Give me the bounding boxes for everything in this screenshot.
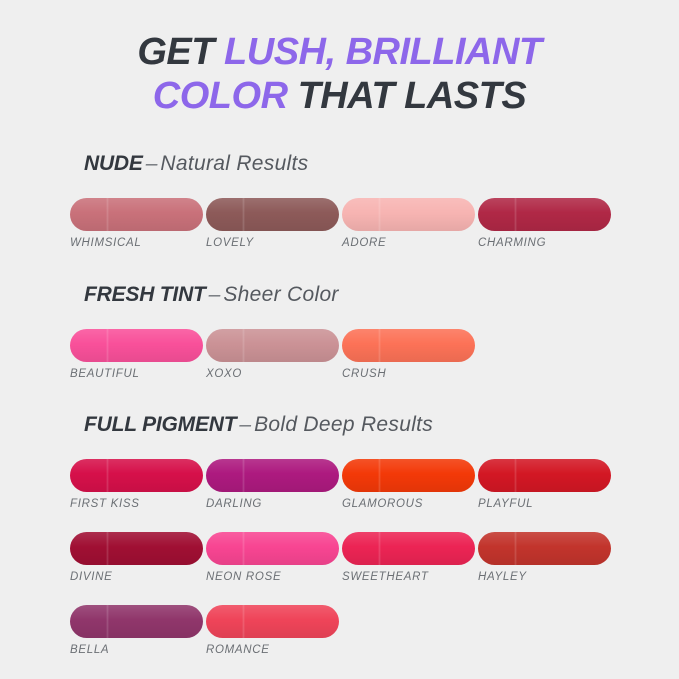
section-title-nude: NUDE–Natural Results	[84, 152, 630, 176]
swatch-cell-hayley[interactable]: HAYLEY	[478, 532, 612, 583]
headline-line-2: COLOR THAT LASTS	[0, 74, 679, 118]
swatch-color-bella[interactable]	[70, 605, 203, 638]
swatch-label-darling: DARLING	[206, 498, 340, 510]
swatch-label-whimsical: WHIMSICAL	[70, 237, 204, 249]
swatch-cell-xoxo[interactable]: XOXO	[206, 329, 340, 380]
section-dash-full-pigment: –	[236, 413, 254, 436]
section-dash-fresh-tint: –	[206, 283, 224, 306]
swatch-cell-neon-rose[interactable]: NEON ROSE	[206, 532, 340, 583]
swatch-color-divine[interactable]	[70, 532, 203, 565]
swatch-label-glamorous: GLAMOROUS	[342, 498, 476, 510]
swatch-grid-nude: WHIMSICAL LOVELY ADORE CHARMING	[70, 176, 630, 249]
swatch-label-neon-rose: NEON ROSE	[206, 571, 340, 583]
swatch-label-xoxo: XOXO	[206, 368, 340, 380]
page-title: GET LUSH, BRILLIANT COLOR THAT LASTS	[0, 30, 679, 118]
swatch-label-beautiful: BEAUTIFUL	[70, 368, 204, 380]
swatch-color-crush[interactable]	[342, 329, 475, 362]
swatch-label-adore: ADORE	[342, 237, 476, 249]
promo-graphic: GET LUSH, BRILLIANT COLOR THAT LASTS NUD…	[0, 0, 679, 679]
swatch-cell-charming[interactable]: CHARMING	[478, 198, 612, 249]
swatch-label-divine: DIVINE	[70, 571, 204, 583]
swatch-color-adore[interactable]	[342, 198, 475, 231]
swatch-color-neon-rose[interactable]	[206, 532, 339, 565]
section-name-fresh-tint: FRESH TINT	[84, 283, 206, 306]
swatch-color-charming[interactable]	[478, 198, 611, 231]
swatch-cell-darling[interactable]: DARLING	[206, 459, 340, 510]
swatch-cell-sweetheart[interactable]: SWEETHEART	[342, 532, 476, 583]
section-nude: NUDE–Natural Results WHIMSICAL LOVELY AD…	[70, 152, 630, 249]
swatch-cell-first-kiss[interactable]: FIRST KISS	[70, 459, 204, 510]
section-subtitle-full-pigment: Bold Deep Results	[254, 413, 433, 436]
section-full-pigment: FULL PIGMENT–Bold Deep Results FIRST KIS…	[70, 413, 630, 656]
headline-that-lasts-text: THAT LASTS	[288, 75, 527, 117]
swatch-color-whimsical[interactable]	[70, 198, 203, 231]
swatch-cell-adore[interactable]: ADORE	[342, 198, 476, 249]
section-title-full-pigment: FULL PIGMENT–Bold Deep Results	[84, 413, 630, 437]
swatch-label-romance: ROMANCE	[206, 644, 340, 656]
headline-get-text: GET	[137, 31, 224, 73]
swatch-cell-crush[interactable]: CRUSH	[342, 329, 476, 380]
swatch-label-hayley: HAYLEY	[478, 571, 612, 583]
swatch-label-sweetheart: SWEETHEART	[342, 571, 476, 583]
headline-accent-2: COLOR	[153, 75, 288, 117]
section-subtitle-nude: Natural Results	[160, 152, 308, 175]
section-title-fresh-tint: FRESH TINT–Sheer Color	[84, 283, 630, 307]
swatch-cell-whimsical[interactable]: WHIMSICAL	[70, 198, 204, 249]
swatch-grid-fresh-tint: BEAUTIFUL XOXO CRUSH	[70, 307, 630, 380]
swatch-label-lovely: LOVELY	[206, 237, 340, 249]
swatch-color-hayley[interactable]	[478, 532, 611, 565]
swatch-label-charming: CHARMING	[478, 237, 612, 249]
swatch-color-sweetheart[interactable]	[342, 532, 475, 565]
swatch-label-bella: BELLA	[70, 644, 204, 656]
swatch-color-first-kiss[interactable]	[70, 459, 203, 492]
swatch-color-glamorous[interactable]	[342, 459, 475, 492]
swatch-cell-divine[interactable]: DIVINE	[70, 532, 204, 583]
swatch-color-darling[interactable]	[206, 459, 339, 492]
swatch-color-xoxo[interactable]	[206, 329, 339, 362]
swatch-grid-full-pigment: FIRST KISS DARLING GLAMOROUS PLAYFUL DIV…	[70, 437, 630, 656]
section-fresh-tint: FRESH TINT–Sheer Color BEAUTIFUL XOXO CR…	[70, 283, 630, 380]
swatch-cell-romance[interactable]: ROMANCE	[206, 605, 340, 656]
swatch-color-romance[interactable]	[206, 605, 339, 638]
swatch-color-playful[interactable]	[478, 459, 611, 492]
swatch-cell-glamorous[interactable]: GLAMOROUS	[342, 459, 476, 510]
swatch-color-beautiful[interactable]	[70, 329, 203, 362]
swatch-cell-playful[interactable]: PLAYFUL	[478, 459, 612, 510]
headline-line-1: GET LUSH, BRILLIANT	[0, 30, 679, 74]
section-subtitle-fresh-tint: Sheer Color	[223, 283, 338, 306]
swatch-label-crush: CRUSH	[342, 368, 476, 380]
swatch-cell-lovely[interactable]: LOVELY	[206, 198, 340, 249]
section-name-nude: NUDE	[84, 152, 143, 175]
section-dash-nude: –	[143, 152, 161, 175]
swatch-cell-bella[interactable]: BELLA	[70, 605, 204, 656]
swatch-label-first-kiss: FIRST KISS	[70, 498, 204, 510]
headline-accent-1: LUSH, BRILLIANT	[224, 31, 542, 73]
swatch-cell-beautiful[interactable]: BEAUTIFUL	[70, 329, 204, 380]
swatch-label-playful: PLAYFUL	[478, 498, 612, 510]
section-name-full-pigment: FULL PIGMENT	[84, 413, 236, 436]
swatch-color-lovely[interactable]	[206, 198, 339, 231]
